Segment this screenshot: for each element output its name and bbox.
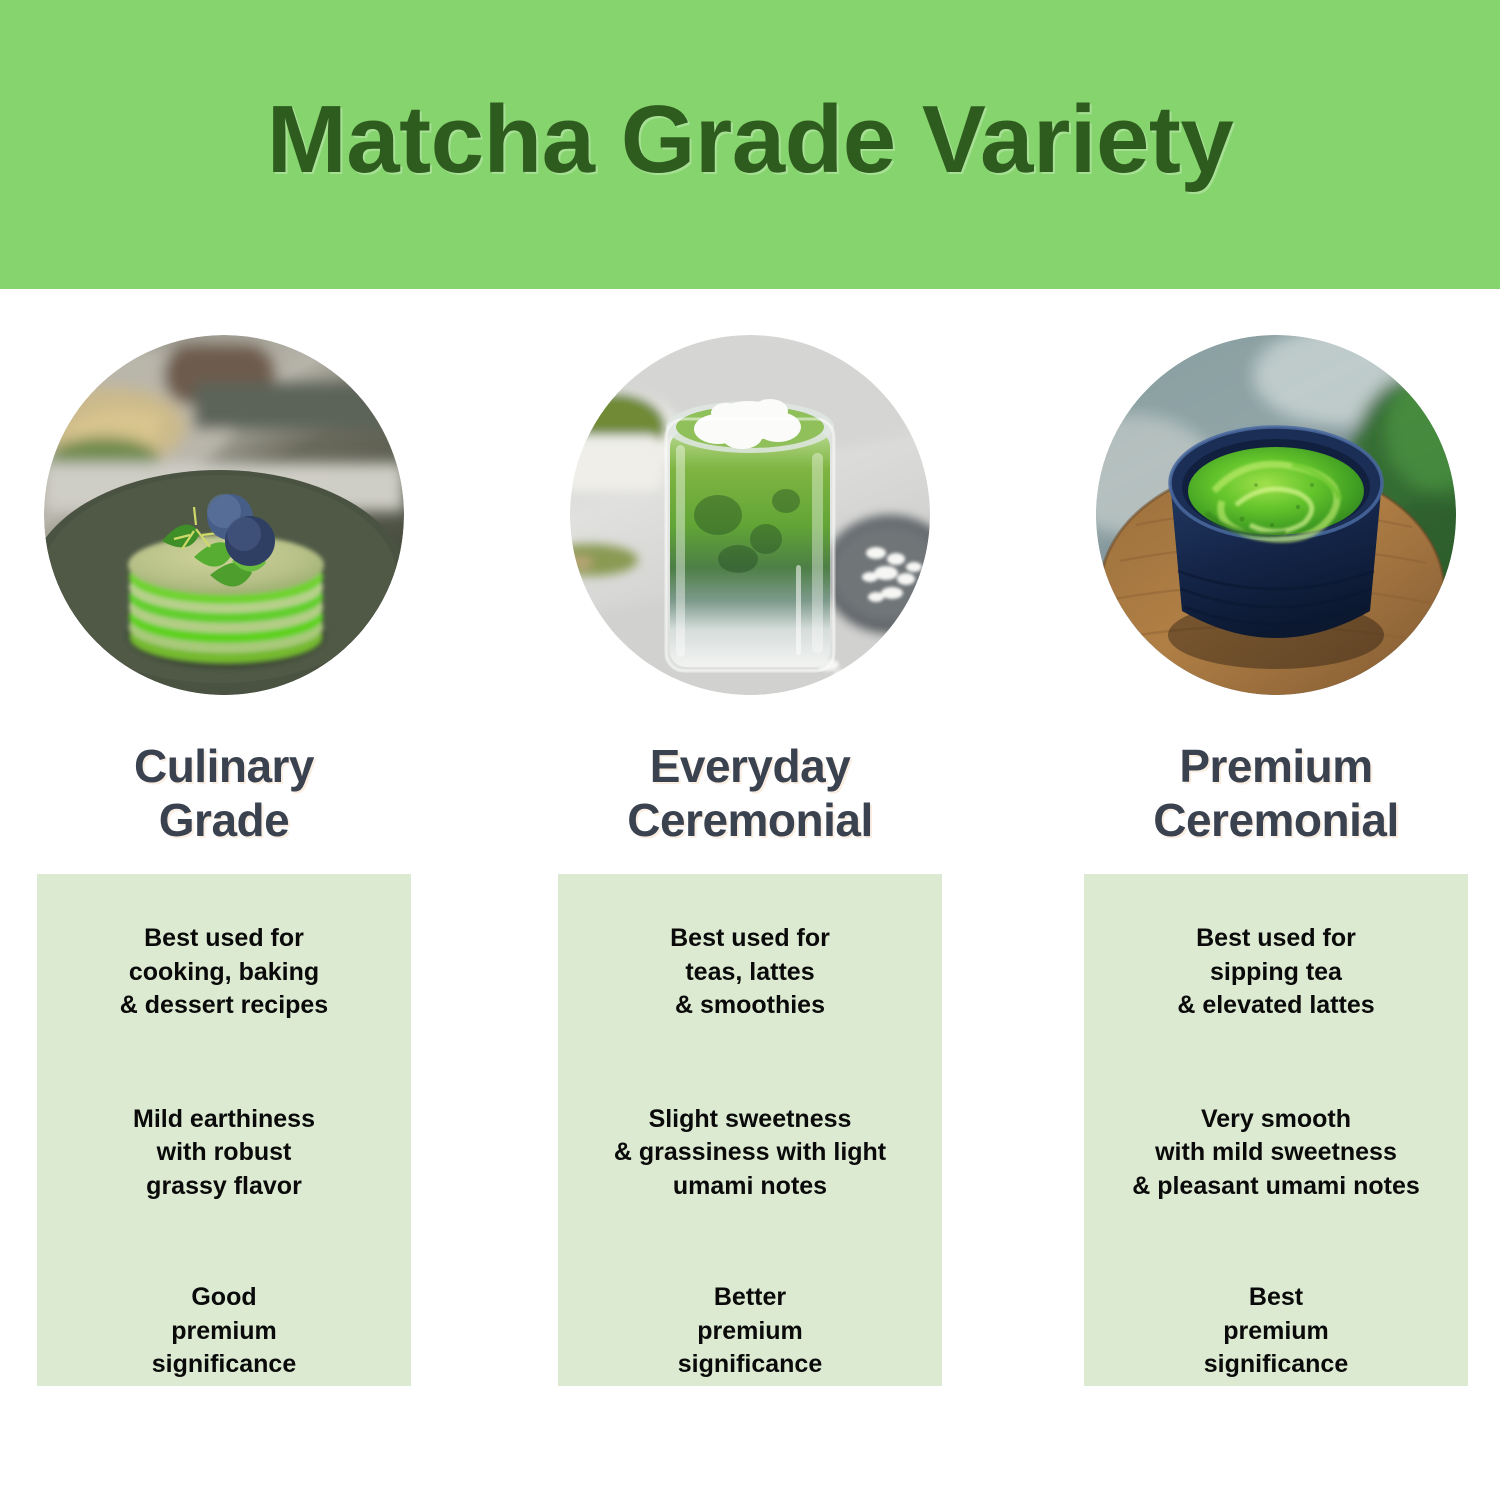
- premium-line3: significance: [152, 1348, 297, 1382]
- info-panel-culinary: Best used for cooking, baking & dessert …: [37, 874, 411, 1386]
- grade-heading-line1: Premium: [1153, 740, 1399, 794]
- premium-ceremonial-photo: [1096, 335, 1456, 695]
- flavor-line3: grassy flavor: [133, 1170, 315, 1204]
- flavor-block: Slight sweetness & grassiness with light…: [608, 1103, 892, 1204]
- info-panel-premium: Best used for sipping tea & elevated lat…: [1084, 874, 1468, 1386]
- culinary-grade-photo: [44, 335, 404, 695]
- flavor-line2: & grassiness with light: [614, 1136, 886, 1170]
- matcha-latte-jar-image: [570, 335, 930, 695]
- flavor-line3: & pleasant umami notes: [1132, 1170, 1420, 1204]
- best-used-line1: Best used for: [670, 922, 830, 956]
- best-used-block: Best used for sipping tea & elevated lat…: [1171, 922, 1380, 1023]
- flavor-block: Very smooth with mild sweetness & pleasa…: [1126, 1103, 1426, 1204]
- grade-heading-line1: Culinary: [134, 740, 314, 794]
- premium-line1: Good: [152, 1281, 297, 1315]
- grade-heading-everyday: Everyday Ceremonial: [627, 740, 873, 852]
- premium-line2: premium: [1204, 1315, 1349, 1349]
- flavor-block: Mild earthiness with robust grassy flavo…: [127, 1103, 321, 1204]
- flavor-line1: Mild earthiness: [133, 1103, 315, 1137]
- grade-column-premium: Premium Ceremonial Best used for sipping…: [1084, 289, 1468, 1500]
- infographic-page: Matcha Grade Variety: [0, 0, 1500, 1500]
- premium-line1: Better: [678, 1281, 823, 1315]
- flavor-line1: Very smooth: [1132, 1103, 1420, 1137]
- best-used-block: Best used for cooking, baking & dessert …: [114, 922, 334, 1023]
- page-title: Matcha Grade Variety: [267, 92, 1233, 198]
- premium-line2: premium: [152, 1315, 297, 1349]
- flavor-line2: with mild sweetness: [1132, 1136, 1420, 1170]
- best-used-line3: & smoothies: [670, 989, 830, 1023]
- premium-line3: significance: [1204, 1348, 1349, 1382]
- premium-line1: Best: [1204, 1281, 1349, 1315]
- info-panel-everyday: Best used for teas, lattes & smoothies S…: [558, 874, 942, 1386]
- matcha-bowl-image: [1096, 335, 1456, 695]
- best-used-line3: & dessert recipes: [120, 989, 328, 1023]
- everyday-ceremonial-photo: [570, 335, 930, 695]
- best-used-line2: cooking, baking: [120, 956, 328, 990]
- premium-significance-block: Good premium significance: [146, 1281, 303, 1382]
- premium-line3: significance: [678, 1348, 823, 1382]
- best-used-line1: Best used for: [120, 922, 328, 956]
- best-used-line2: sipping tea: [1177, 956, 1374, 990]
- premium-significance-block: Better premium significance: [672, 1281, 829, 1382]
- grade-heading-premium: Premium Ceremonial: [1153, 740, 1399, 852]
- best-used-line3: & elevated lattes: [1177, 989, 1374, 1023]
- flavor-line2: with robust: [133, 1136, 315, 1170]
- flavor-line3: umami notes: [614, 1170, 886, 1204]
- matcha-crepe-cake-image: [44, 335, 404, 695]
- premium-significance-block: Best premium significance: [1198, 1281, 1355, 1382]
- grade-heading-line2: Grade: [134, 794, 314, 848]
- flavor-line1: Slight sweetness: [614, 1103, 886, 1137]
- premium-line2: premium: [678, 1315, 823, 1349]
- grade-heading-line1: Everyday: [627, 740, 873, 794]
- best-used-line2: teas, lattes: [670, 956, 830, 990]
- grade-heading-line2: Ceremonial: [627, 794, 873, 848]
- header-band: Matcha Grade Variety: [0, 0, 1500, 289]
- best-used-block: Best used for teas, lattes & smoothies: [664, 922, 836, 1023]
- grade-heading-line2: Ceremonial: [1153, 794, 1399, 848]
- grade-heading-culinary: Culinary Grade: [134, 740, 314, 852]
- best-used-line1: Best used for: [1177, 922, 1374, 956]
- grade-column-culinary: Culinary Grade Best used for cooking, ba…: [32, 289, 416, 1500]
- grade-column-everyday: Everyday Ceremonial Best used for teas, …: [558, 289, 942, 1500]
- grade-columns: Culinary Grade Best used for cooking, ba…: [0, 289, 1500, 1500]
